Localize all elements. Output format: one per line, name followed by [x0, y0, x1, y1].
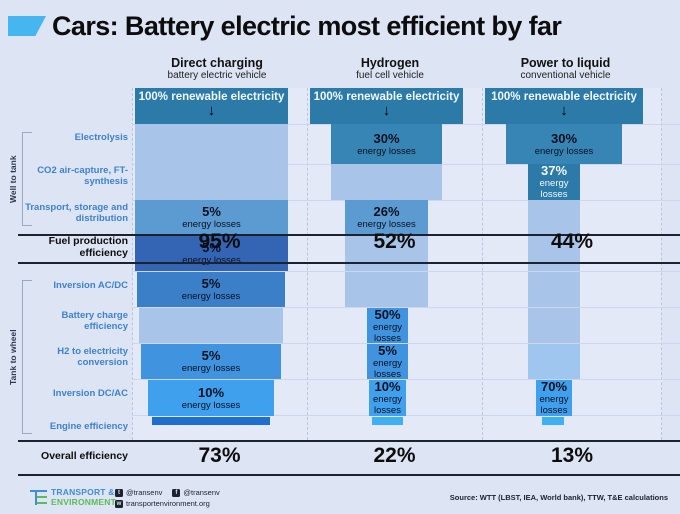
- bar-direct-overall-marker: [152, 417, 270, 425]
- down-arrow-icon: ↓: [208, 103, 216, 118]
- bar-label: energy losses: [182, 291, 241, 302]
- column-title: Power to liquid: [478, 56, 653, 70]
- summary-value-overall-ptl: 13%: [482, 444, 662, 468]
- summary-value-fuel-ptl: 44%: [482, 230, 662, 254]
- bar-label: energy losses: [367, 322, 408, 344]
- bar-direct-inv-dcac: 5% energy losses: [141, 344, 281, 379]
- bar-ptl-inv-dcac: [528, 344, 580, 379]
- bar-value: 5%: [202, 349, 221, 363]
- globe-icon: w: [115, 500, 123, 508]
- bar-ptl-engine: 70% energy losses: [536, 380, 572, 416]
- row-label-co2-ft: CO2 air-capture, FT-synthesis: [18, 163, 128, 189]
- bar-label: energy losses: [367, 358, 408, 380]
- bar-label: energy losses: [182, 255, 241, 266]
- bar-direct-co2ft: [135, 164, 288, 200]
- bracket-tank-to-wheel: [22, 280, 32, 434]
- bar-ptl-overall-marker: [542, 417, 564, 425]
- summary-value-overall-direct: 73%: [132, 444, 307, 468]
- column-title: Direct charging: [132, 56, 302, 70]
- summary-label-overall: Overall efficiency: [16, 450, 128, 462]
- bar-value: 50%: [374, 308, 400, 322]
- bar-ptl-source: 100% renewable electricity ↓: [485, 88, 643, 124]
- summary-value-overall-hydrogen: 22%: [307, 444, 482, 468]
- row-label-engine: Engine efficiency: [18, 415, 128, 437]
- divider-overall-top: [18, 440, 680, 442]
- facebook-handle[interactable]: @transenv: [183, 488, 219, 498]
- bar-value: 10%: [198, 386, 224, 400]
- brand-logo: TRANSPORT & ENVIRONMENT: [30, 488, 116, 507]
- column-title: Hydrogen: [305, 56, 475, 70]
- summary-label-fuel-production: Fuel production efficiency: [16, 235, 128, 259]
- logo-line-2: ENVIRONMENT: [51, 498, 116, 508]
- row-label-h2-elec: H2 to electricity conversion: [18, 344, 128, 370]
- column-header-ptl: Power to liquid conventional vehicle: [478, 56, 653, 82]
- bar-hydrogen-battery-charge: [345, 272, 428, 307]
- bar-value: 5%: [202, 205, 221, 219]
- bar-label: energy losses: [357, 146, 416, 157]
- row-label-inv-dcac: Inversion DC/AC: [18, 382, 128, 404]
- bracket-well-to-tank: [22, 132, 32, 226]
- group-label-tank-to-wheel: Tank to wheel: [8, 318, 18, 396]
- row-label-electrolysis: Electrolysis: [18, 125, 128, 149]
- bar-label: energy losses: [182, 400, 241, 411]
- te-logo-icon: [30, 489, 47, 506]
- bar-direct-h2-elec: [139, 308, 283, 343]
- divider-overall-bottom: [18, 474, 680, 476]
- column-subtitle: conventional vehicle: [478, 70, 653, 82]
- divider-fuel-production-bottom: [18, 262, 680, 264]
- bar-label: energy losses: [535, 146, 594, 157]
- footer: TRANSPORT & ENVIRONMENT t @transenv f @t…: [0, 484, 680, 514]
- facebook-icon: f: [172, 489, 180, 497]
- bar-label: energy losses: [536, 394, 572, 416]
- bar-ptl-electrolysis: 30% energy losses: [506, 124, 622, 164]
- bar-direct-engine: 10% energy losses: [148, 380, 274, 416]
- column-subtitle: battery electric vehicle: [132, 70, 302, 82]
- summary-value-fuel-direct: 95%: [132, 230, 307, 254]
- bar-value: 30%: [373, 132, 399, 146]
- social-links: t @transenv f @transenv w transportenvir…: [115, 488, 220, 510]
- title-row: Cars: Battery electric most efficient by…: [0, 6, 680, 46]
- bar-hydrogen-electrolysis: 30% energy losses: [331, 124, 442, 164]
- bar-label: energy losses: [357, 219, 416, 230]
- bar-hydrogen-h2-elec: 50% energy losses: [367, 308, 408, 343]
- bar-hydrogen-overall-marker: [372, 417, 403, 425]
- bar-ptl-co2ft: 37% energy losses: [528, 164, 580, 200]
- bar-direct-battery-charge: 5% energy losses: [137, 272, 285, 307]
- column-separator: [661, 88, 662, 440]
- bar-hydrogen-engine: 10% energy losses: [369, 380, 406, 416]
- bar-hydrogen-inv-dcac: 5% energy losses: [367, 344, 408, 379]
- twitter-icon: t: [115, 489, 123, 497]
- row-label-inv-acdc: Inversion AC/DC: [18, 274, 128, 296]
- column-header-hydrogen: Hydrogen fuel cell vehicle: [305, 56, 475, 82]
- accent-chevron-icon: [8, 16, 46, 36]
- bar-hydrogen-source: 100% renewable electricity ↓: [310, 88, 463, 124]
- group-label-well-to-tank: Well to tank: [8, 148, 18, 210]
- bar-label: energy losses: [182, 363, 241, 374]
- column-subtitle: fuel cell vehicle: [305, 70, 475, 82]
- bar-label: energy losses: [369, 394, 406, 416]
- down-arrow-icon: ↓: [383, 103, 391, 118]
- infographic-root: Cars: Battery electric most efficient by…: [0, 0, 680, 514]
- page-title: Cars: Battery electric most efficient by…: [52, 11, 561, 42]
- bar-direct-electrolysis: [135, 124, 288, 164]
- column-separator: [482, 88, 483, 440]
- bar-label: energy losses: [528, 178, 580, 200]
- row-label-transport: Transport, storage and distribution: [18, 200, 128, 226]
- bar-hydrogen-co2ft: [331, 164, 442, 200]
- bar-value: 70%: [541, 380, 567, 394]
- bar-label: energy losses: [182, 219, 241, 230]
- row-label-battery-charge: Battery charge efficiency: [18, 308, 128, 334]
- bar-value: 5%: [202, 277, 221, 291]
- bar-ptl-battery-charge: [528, 272, 580, 307]
- bar-value: 5%: [378, 344, 397, 358]
- column-separator: [307, 88, 308, 440]
- bar-direct-source: 100% renewable electricity ↓: [135, 88, 288, 124]
- bar-value: 30%: [551, 132, 577, 146]
- bar-value: 26%: [373, 205, 399, 219]
- column-header-direct: Direct charging battery electric vehicle: [132, 56, 302, 82]
- website-link[interactable]: transportenvironment.org: [126, 499, 210, 509]
- bar-value: 37%: [541, 164, 567, 178]
- source-note: Source: WTT (LBST, IEA, World bank), TTW…: [450, 493, 668, 502]
- twitter-handle[interactable]: @transenv: [126, 488, 162, 498]
- bar-value: 10%: [374, 380, 400, 394]
- bar-ptl-h2-elec: [528, 308, 580, 343]
- down-arrow-icon: ↓: [560, 103, 568, 118]
- summary-value-fuel-hydrogen: 52%: [307, 230, 482, 254]
- column-separator: [132, 88, 133, 440]
